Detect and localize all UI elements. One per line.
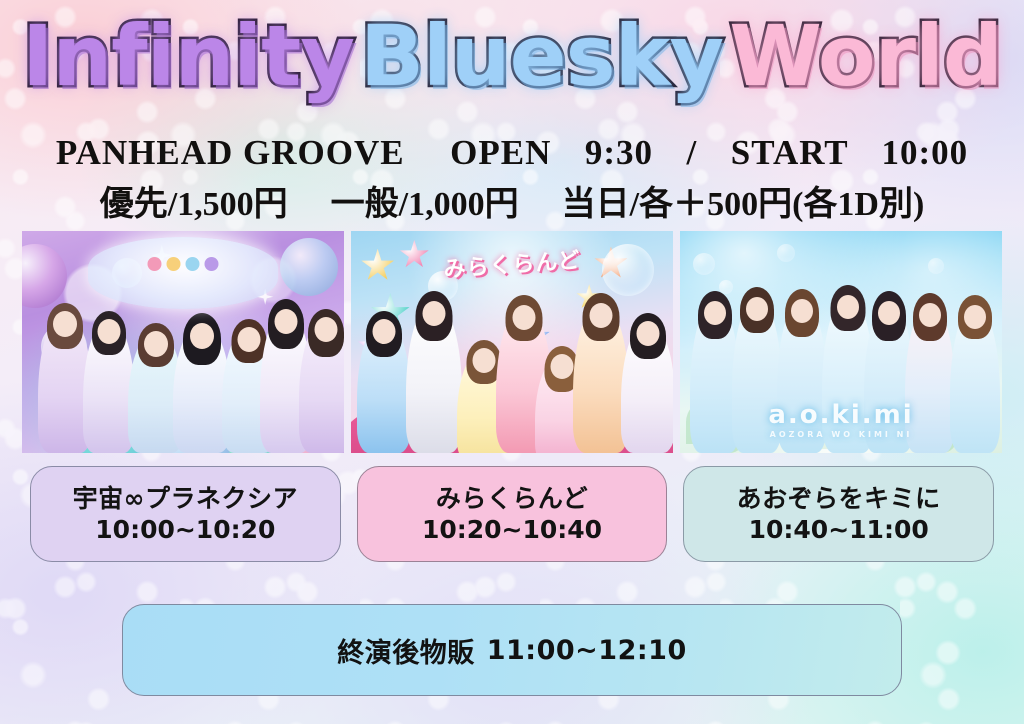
group-photo-3: a.o.ki.mi AOZORA WO KIMI NI [680,231,1002,453]
group-schedule-row: 宇宙∞プラネクシア 10:00~10:20 みらくらんど 10:20~10:40… [30,466,994,562]
price-priority: 優先/1,500円 [100,186,288,223]
group-photo-2: みらくらんど [351,231,673,453]
merch-schedule-bar[interactable]: 終演後物販 11:00~12:10 [122,604,902,696]
photo-3-watermark-text: a.o.ki.mi [768,400,913,430]
event-poster: Infinity Bluesky World PANHEAD GROOVE OP… [0,0,1024,724]
price-general: 一般/1,000円 [331,186,519,223]
start-time: 10:00 [882,133,969,172]
poster-title: Infinity Bluesky World [0,10,1024,102]
group-time-1: 10:00~10:20 [95,516,275,544]
group-card-mirakurando[interactable]: みらくらんど 10:20~10:40 [357,466,668,562]
venue-time-line: PANHEAD GROOVE OPEN 9:30 / START 10:00 [0,133,1024,173]
group-card-aozora-wo-kimi-ni[interactable]: あおぞらをキミに 10:40~11:00 [683,466,994,562]
group-card-uchu-planexia[interactable]: 宇宙∞プラネクシア 10:00~10:20 [30,466,341,562]
open-label: OPEN [450,133,551,172]
group-name-2: みらくらんど [436,485,588,513]
title-word-world: World [729,14,1002,98]
title-word-infinity: Infinity [22,14,354,98]
photo-1-logo-plate [88,237,278,309]
photo-3-watermark: a.o.ki.mi AOZORA WO KIMI NI [768,400,913,439]
group-name-3: あおぞらをキミに [737,485,941,513]
merch-label: 終演後物販 [337,631,475,670]
merch-time: 11:00~12:10 [487,635,687,666]
price-same-day: 当日/各＋500円(各1D別) [562,186,925,223]
time-separator: / [687,133,698,172]
title-word-bluesky: Bluesky [360,14,723,98]
start-label: START [731,133,848,172]
open-time: 9:30 [585,133,653,172]
group-photo-row: みらくらんど [22,231,1002,453]
group-time-2: 10:20~10:40 [422,516,602,544]
group-time-3: 10:40~11:00 [749,516,929,544]
price-line: 優先/1,500円 一般/1,000円 当日/各＋500円(各1D別) [0,176,1024,225]
group-photo-1 [22,231,344,453]
photo-3-watermark-subtext: AOZORA WO KIMI NI [768,430,913,439]
group-name-1: 宇宙∞プラネクシア [73,485,298,513]
venue-name: PANHEAD GROOVE [56,133,405,172]
